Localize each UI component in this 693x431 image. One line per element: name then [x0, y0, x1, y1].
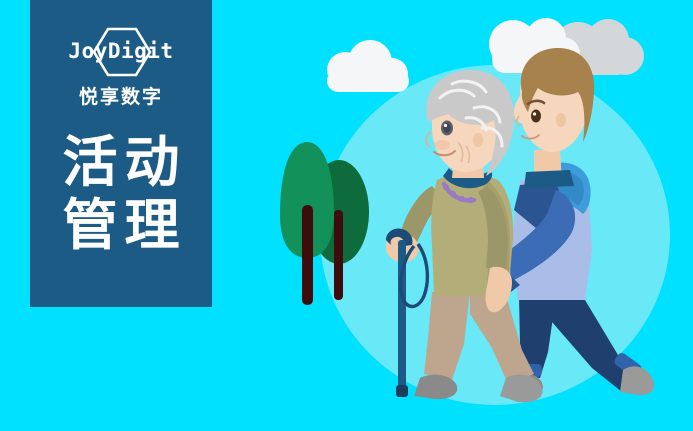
young-man-eye: [531, 110, 541, 123]
brand-latin-name: JoyDigit: [53, 36, 189, 66]
page-title-line-1: 活动: [55, 131, 186, 194]
young-man-ear: [556, 113, 566, 127]
brand-panel: JoyDigit 悦享数字 活动 管理: [30, 0, 212, 307]
poster-canvas: JoyDigit 悦享数字 活动 管理: [0, 0, 693, 431]
woman-ear: [473, 133, 483, 147]
page-title: 活动 管理: [55, 131, 186, 257]
logo-lockup: JoyDigit: [53, 26, 189, 78]
young-man-collar: [524, 170, 574, 188]
brand-chinese-name: 悦享数字: [79, 82, 163, 109]
page-title-line-2: 管理: [55, 194, 186, 257]
woman-cheek: [434, 140, 450, 150]
